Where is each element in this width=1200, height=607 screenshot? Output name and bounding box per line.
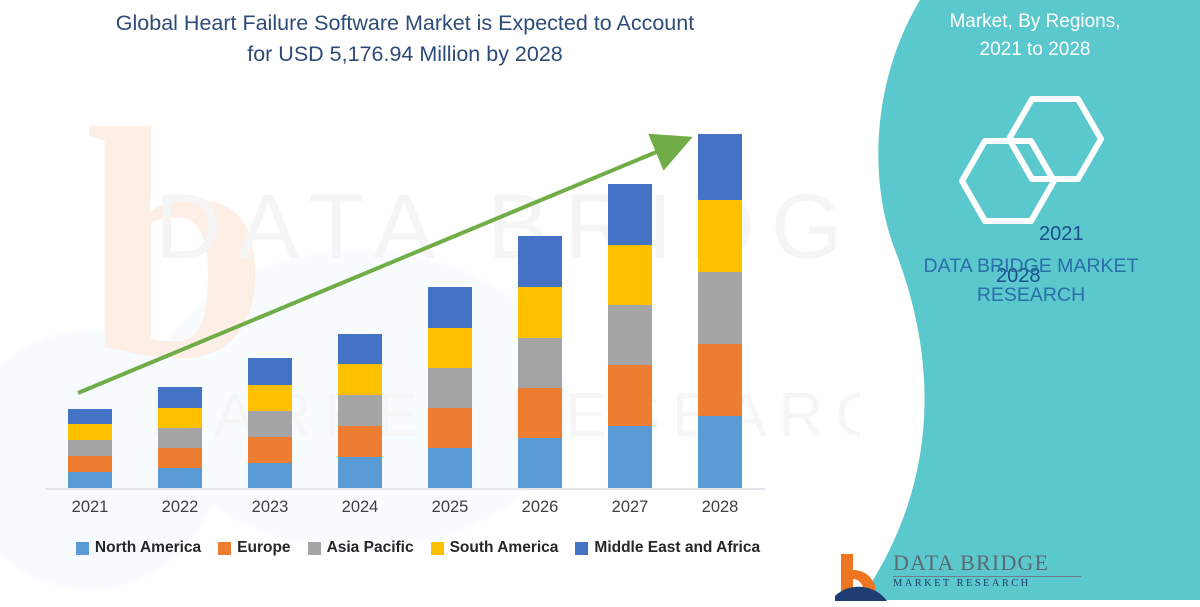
right-brand-panel: Market, By Regions, 2021 to 2028 2021 20… xyxy=(800,0,1200,600)
bar-column xyxy=(675,110,765,488)
logo-tagline: MARKET RESEARCH xyxy=(893,578,1031,589)
bar-column xyxy=(495,110,585,488)
stacked-bar-2022[interactable] xyxy=(158,387,202,488)
bar-segment[interactable] xyxy=(518,338,562,388)
bar-segment[interactable] xyxy=(428,408,472,448)
bar-segment[interactable] xyxy=(608,365,652,426)
hexagon-label-2021: 2021 xyxy=(1039,223,1084,246)
x-axis-label: 2025 xyxy=(405,498,495,517)
bar-segment[interactable] xyxy=(698,416,742,488)
bar-segment[interactable] xyxy=(608,245,652,305)
bar-segment[interactable] xyxy=(698,344,742,416)
bar-segment[interactable] xyxy=(608,184,652,245)
bar-segment[interactable] xyxy=(158,428,202,448)
panel-heading: Market, By Regions, 2021 to 2028 xyxy=(800,8,1200,64)
panel-heading-line-2: 2021 to 2028 xyxy=(980,39,1091,60)
bar-segment[interactable] xyxy=(248,463,292,488)
bar-column xyxy=(45,110,135,488)
x-axis-label: 2021 xyxy=(45,498,135,517)
legend-label: North America xyxy=(95,539,201,557)
bridge-mark-icon xyxy=(835,552,891,602)
bar-segment[interactable] xyxy=(428,328,472,368)
chart-legend: North AmericaEuropeAsia PacificSouth Ame… xyxy=(48,539,788,557)
stacked-bar-chart: 20212022202320242025202620272028 xyxy=(0,0,860,600)
bar-segment[interactable] xyxy=(518,388,562,438)
bar-segment[interactable] xyxy=(68,409,112,424)
panel-brand-line-1: DATA BRIDGE MARKET xyxy=(924,255,1139,277)
hexagon-group: 2021 2028 xyxy=(800,95,1200,225)
bar-segment[interactable] xyxy=(158,448,202,468)
bar-segment[interactable] xyxy=(248,411,292,437)
bar-segment[interactable] xyxy=(608,426,652,488)
bar-segment[interactable] xyxy=(248,385,292,411)
hexagon-outlines xyxy=(800,95,1200,225)
bar-segment[interactable] xyxy=(338,364,382,395)
bar-segment[interactable] xyxy=(68,424,112,440)
x-axis-line xyxy=(45,488,765,490)
panel-brand-line-2: RESEARCH xyxy=(977,284,1085,306)
legend-swatch-icon xyxy=(308,542,321,555)
bar-segment[interactable] xyxy=(428,368,472,408)
bar-segment[interactable] xyxy=(248,358,292,385)
legend-item[interactable]: Europe xyxy=(218,539,290,557)
legend-label: Asia Pacific xyxy=(327,539,414,557)
legend-swatch-icon xyxy=(218,542,231,555)
bar-segment[interactable] xyxy=(68,440,112,456)
legend-item[interactable]: Asia Pacific xyxy=(308,539,414,557)
bar-segment[interactable] xyxy=(338,426,382,457)
bar-segment[interactable] xyxy=(338,395,382,426)
bar-segment[interactable] xyxy=(158,387,202,408)
panel-heading-line-1: Market, By Regions, xyxy=(949,11,1120,32)
bar-segment[interactable] xyxy=(338,457,382,488)
bar-segment[interactable] xyxy=(518,287,562,338)
x-axis-label: 2028 xyxy=(675,498,765,517)
bar-segment[interactable] xyxy=(428,448,472,488)
stacked-bar-2027[interactable] xyxy=(608,184,652,488)
logo-name: DATA BRIDGE xyxy=(893,550,1049,576)
bar-segment[interactable] xyxy=(518,236,562,287)
logo-divider xyxy=(893,576,1081,577)
company-logo: DATA BRIDGE MARKET RESEARCH xyxy=(835,552,1165,604)
bar-segment[interactable] xyxy=(428,287,472,328)
bar-segment[interactable] xyxy=(698,272,742,344)
x-axis-label: 2027 xyxy=(585,498,675,517)
bar-segment[interactable] xyxy=(248,437,292,463)
infographic-canvas: b DATA BRIDGE MARKET RESEARCH Global Hea… xyxy=(0,0,1200,600)
x-axis-label: 2022 xyxy=(135,498,225,517)
legend-swatch-icon xyxy=(431,542,444,555)
bar-segment[interactable] xyxy=(158,468,202,488)
legend-swatch-icon xyxy=(76,542,89,555)
stacked-bar-2023[interactable] xyxy=(248,358,292,488)
bar-segment[interactable] xyxy=(698,134,742,200)
bar-column xyxy=(225,110,315,488)
stacked-bar-2025[interactable] xyxy=(428,287,472,488)
bar-column xyxy=(405,110,495,488)
stacked-bar-2026[interactable] xyxy=(518,236,562,488)
bar-segment[interactable] xyxy=(68,472,112,488)
bar-segment[interactable] xyxy=(338,334,382,364)
x-axis-label: 2026 xyxy=(495,498,585,517)
legend-item[interactable]: Middle East and Africa xyxy=(575,539,760,557)
legend-swatch-icon xyxy=(575,542,588,555)
legend-label: Europe xyxy=(237,539,290,557)
legend-item[interactable]: South America xyxy=(431,539,559,557)
x-axis-label: 2023 xyxy=(225,498,315,517)
stacked-bar-2021[interactable] xyxy=(68,409,112,488)
x-axis-labels: 20212022202320242025202620272028 xyxy=(45,498,765,517)
bar-column xyxy=(585,110,675,488)
bar-segment[interactable] xyxy=(608,305,652,365)
panel-brand: DATA BRIDGE MARKET RESEARCH xyxy=(800,252,1200,310)
x-axis-label: 2024 xyxy=(315,498,405,517)
bar-segment[interactable] xyxy=(158,408,202,428)
chart-bars xyxy=(45,110,765,488)
bar-segment[interactable] xyxy=(518,438,562,488)
legend-label: South America xyxy=(450,539,559,557)
bar-column xyxy=(135,110,225,488)
stacked-bar-2024[interactable] xyxy=(338,334,382,488)
stacked-bar-2028[interactable] xyxy=(698,134,742,488)
bar-column xyxy=(315,110,405,488)
bar-segment[interactable] xyxy=(698,200,742,272)
legend-item[interactable]: North America xyxy=(76,539,201,557)
bar-segment[interactable] xyxy=(68,456,112,472)
legend-label: Middle East and Africa xyxy=(594,539,760,557)
